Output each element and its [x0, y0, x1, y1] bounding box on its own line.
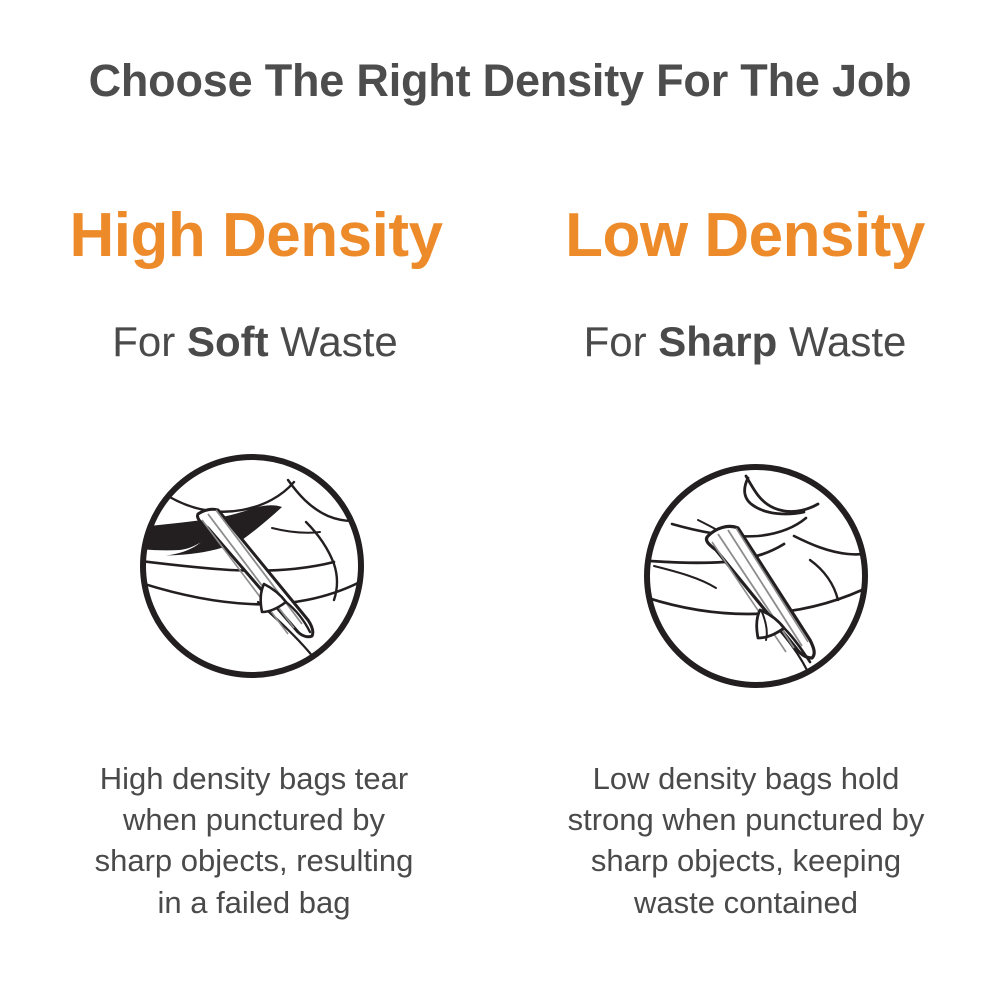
heading-high-density: High Density	[6, 205, 506, 267]
illustration-high-density	[2, 452, 502, 688]
infographic-poster: Choose The Right Density For The Job Hig…	[0, 0, 1000, 1000]
subheading-emphasis: Soft	[187, 318, 269, 365]
column-high-density: High Density For Soft Waste	[0, 0, 500, 1000]
column-low-density: Low Density For Sharp Waste	[500, 0, 1000, 1000]
illustration-low-density	[506, 462, 1000, 698]
caption-low-density: Low density bags hold strong when punctu…	[496, 758, 996, 923]
subheading-suffix: Waste	[777, 318, 906, 365]
subheading-sharp-waste: For Sharp Waste	[495, 319, 995, 365]
subheading-soft-waste: For Soft Waste	[5, 319, 505, 365]
subheading-emphasis: Sharp	[658, 318, 777, 365]
subheading-prefix: For	[584, 318, 659, 365]
intact-bag-circle-icon	[642, 462, 870, 690]
heading-low-density: Low Density	[495, 205, 995, 267]
torn-bag-circle-icon	[138, 452, 366, 680]
comparison-columns: High Density For Soft Waste	[0, 0, 1000, 1000]
subheading-prefix: For	[112, 318, 187, 365]
caption-high-density: High density bags tear when punctured by…	[4, 758, 504, 923]
subheading-suffix: Waste	[269, 318, 398, 365]
